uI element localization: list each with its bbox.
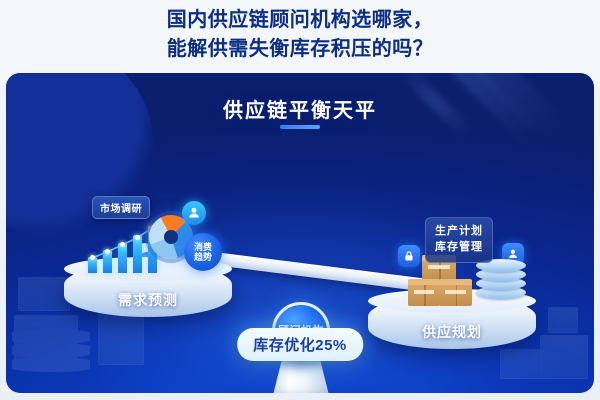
infographic-canvas: 国内供应链顾问机构选哪家， 能解供需失衡库存积压的吗？ 供应链平衡天平 <box>0 0 600 400</box>
trend-badge-line-2: 趋势 <box>194 252 212 262</box>
supply-panel-line-2: 库存管理 <box>435 240 483 256</box>
page-title: 国内供应链顾问机构选哪家， 能解供需失衡库存积压的吗？ <box>0 6 600 64</box>
trend-badge-line-1: 消费 <box>194 242 212 252</box>
balance-scale: 需求预测 供应规划 <box>6 73 594 393</box>
inventory-optimization-pill: 库存优化25% <box>237 328 363 361</box>
market-research-tag: 市场调研 <box>92 196 150 219</box>
database-stack <box>476 259 526 305</box>
consumer-trend-badge: 消费 趋势 <box>184 233 222 271</box>
headline-line-1: 国内供应链顾问机构选哪家， <box>167 9 434 31</box>
supply-panel: 生产计划 库存管理 <box>425 217 493 263</box>
pan-right-label: 供应规划 <box>422 322 482 342</box>
supply-panel-line-1: 生产计划 <box>435 224 483 240</box>
person-icon <box>182 201 206 225</box>
headline-line-2: 能解供需失衡库存积压的吗？ <box>0 35 600 64</box>
pan-left-label: 需求预测 <box>118 290 178 310</box>
main-card: 供应链平衡天平 需求预测 供应规划 <box>6 73 594 393</box>
